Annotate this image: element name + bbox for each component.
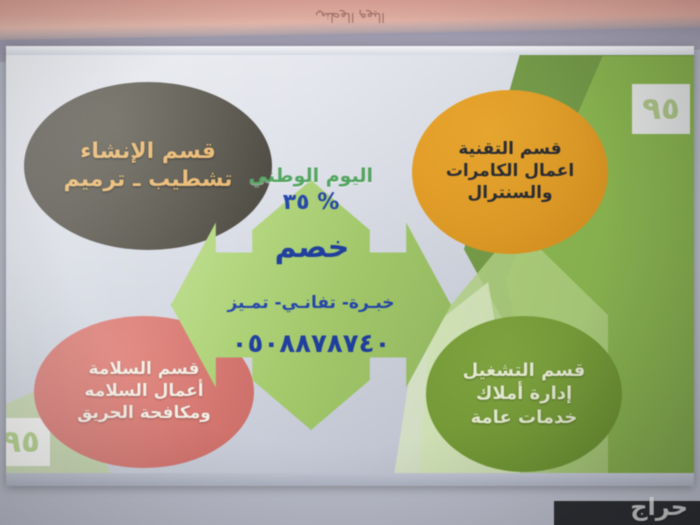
poster-bottom-edge <box>6 473 694 486</box>
department-bubble-technology: قسم التقنية اعمال الكامرات والسنترال <box>412 90 608 254</box>
company-motto: خبـرة- تفانـي- تمـيز <box>171 293 451 313</box>
poster-top-edge <box>6 46 694 55</box>
department-bubble-operations: قسم التشغيل إدارة أملاك خدمات عامة <box>426 316 622 472</box>
department-line: قسم الإنشاء <box>80 138 216 166</box>
advertising-poster: ٩٥ ٩٥ قسم الإنشاء تشطيب ـ ترميم قسم التق… <box>6 46 694 486</box>
department-line: تشطيب ـ ترميم <box>64 166 233 194</box>
department-line: قسم التقنية <box>458 139 561 161</box>
poster-board: ٩٥ ٩٥ قسم الإنشاء تشطيب ـ ترميم قسم التق… <box>6 46 694 486</box>
department-line: أعمال السلامه <box>84 381 203 403</box>
department-line: اعمال الكامرات <box>446 161 574 183</box>
department-line: قسم التشغيل <box>463 359 586 382</box>
badge-bottom-left: ٩٥ <box>6 418 50 466</box>
badge-top-right: ٩٥ <box>632 84 690 134</box>
haraj-watermark: حراج <box>630 493 688 521</box>
department-bubble-construction: قسم الإنشاء تشطيب ـ ترميم <box>24 82 272 250</box>
discount-label: خصم <box>242 230 382 265</box>
photo-canvas: اليوم الوطني ٩٥ ٩٥ قسم الإنشاء تشطيب ـ ت… <box>0 0 700 525</box>
contact-phone-number[interactable]: ٠٥٠٨٨٧٨٧٤٠ <box>171 329 451 359</box>
department-line: ومكافحة الحريق <box>77 403 211 425</box>
department-line: إدارة أملاك <box>476 382 572 405</box>
department-line: والسنترال <box>467 183 552 205</box>
department-line: خدمات عامة <box>471 406 578 429</box>
department-line: قسم السلامة <box>89 359 200 381</box>
